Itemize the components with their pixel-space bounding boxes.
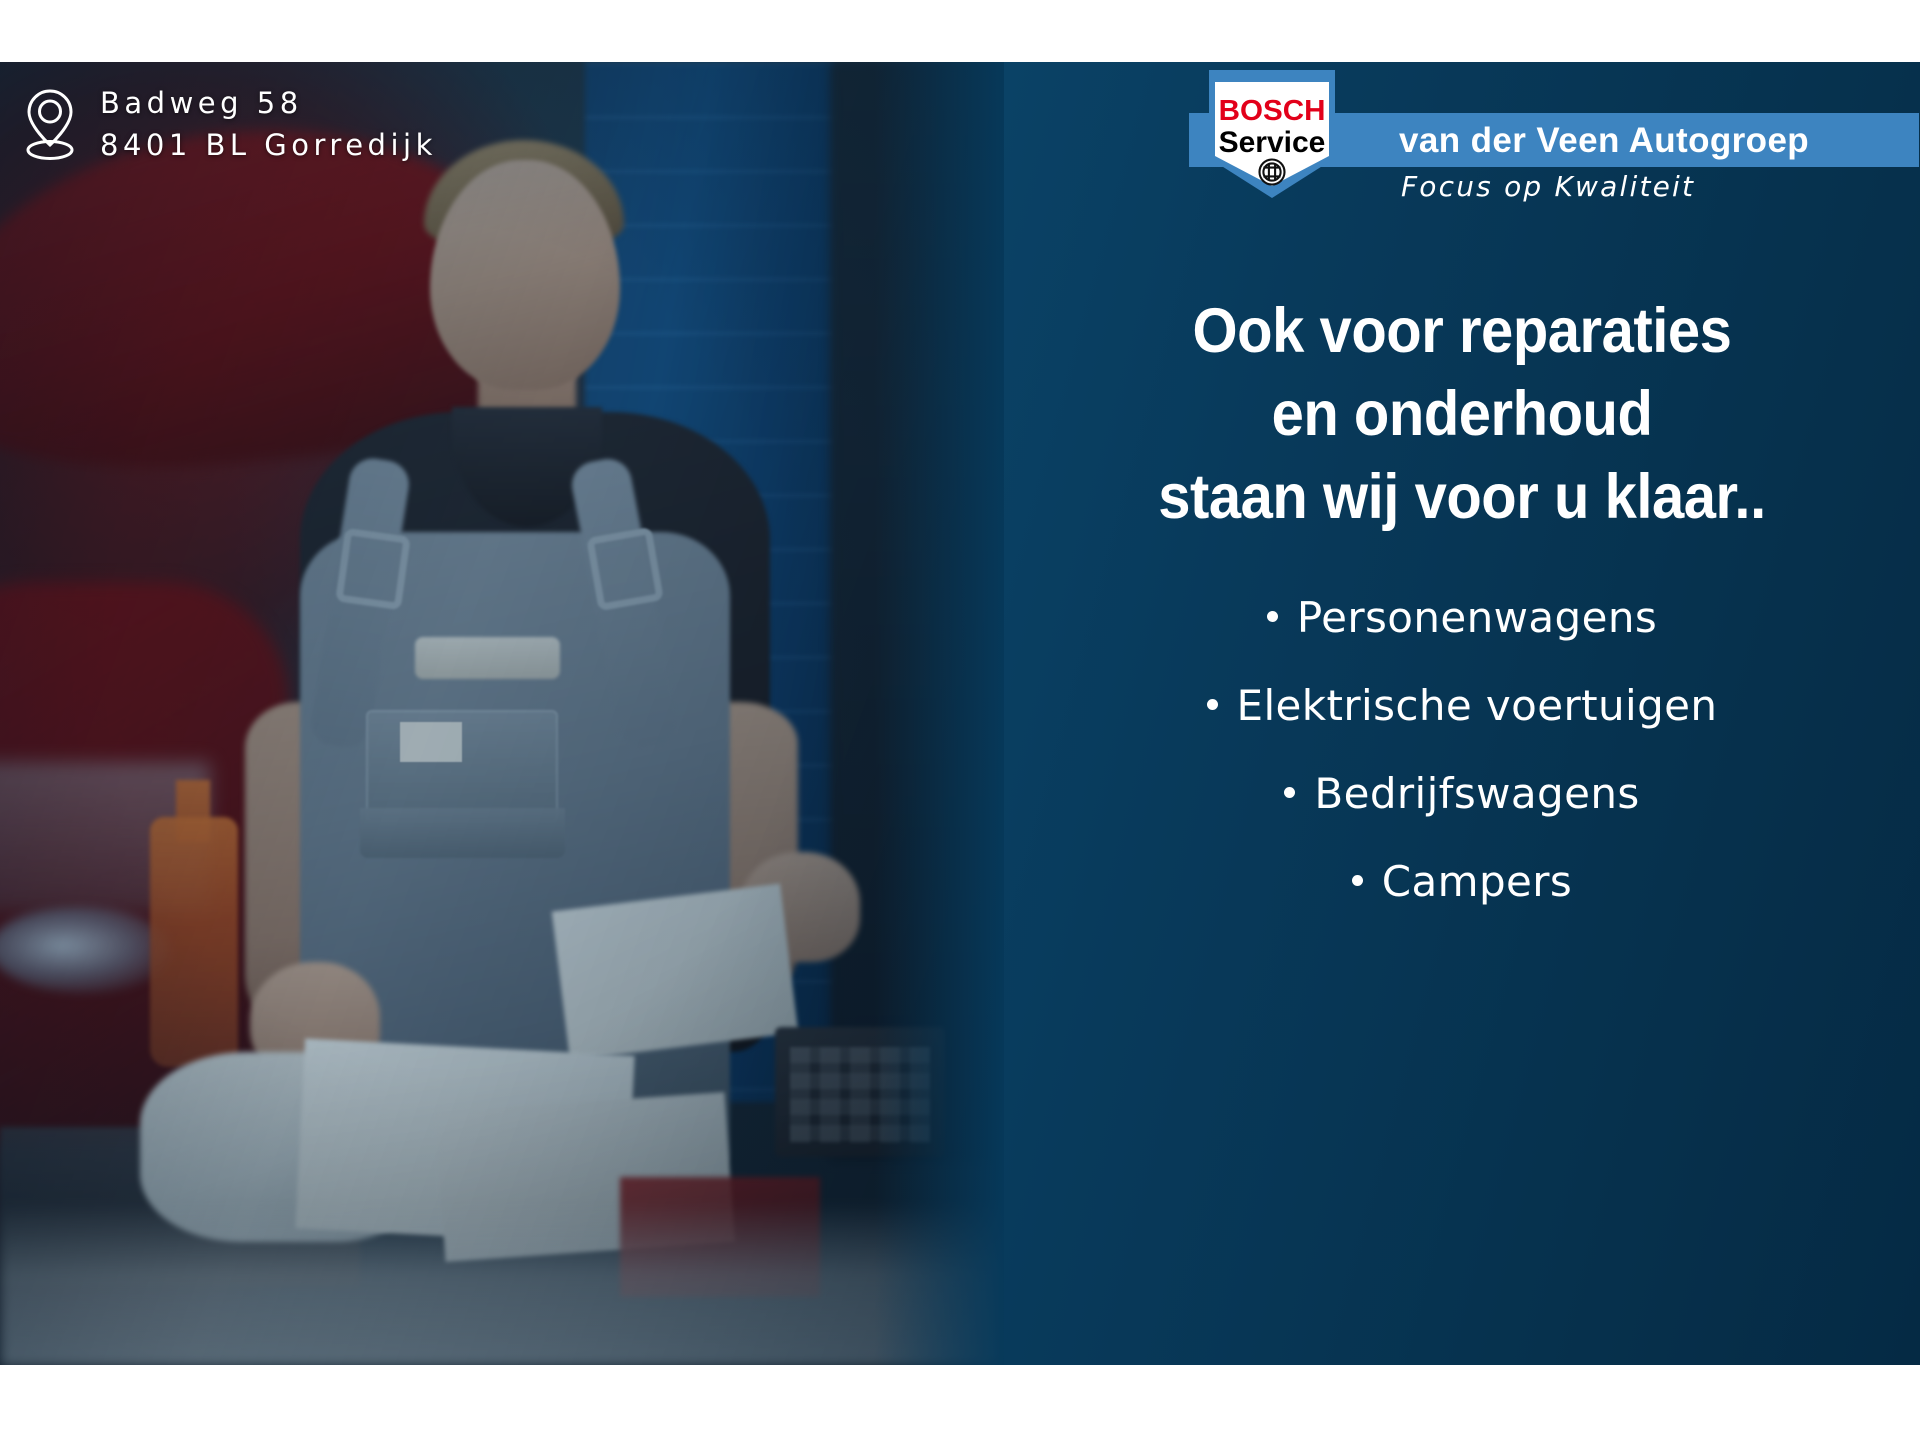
service-banner: Badweg 58 8401 BL Gorredijk BOSCH Servic… <box>0 62 1920 1365</box>
list-item: Campers <box>1004 861 1920 903</box>
bullet-dot-icon <box>1284 787 1295 798</box>
bosch-service-logo: BOSCH Service <box>1209 70 1335 198</box>
company-tagline: Focus op Kwaliteit <box>1401 170 1695 203</box>
headline-line-2: en onderhoud <box>1041 373 1884 456</box>
address-text: Badweg 58 8401 BL Gorredijk <box>100 82 437 166</box>
services-list: Personenwagens Elektrische voertuigen Be… <box>1004 597 1920 949</box>
service-label: Personenwagens <box>1297 593 1657 642</box>
svg-text:Service: Service <box>1219 126 1326 159</box>
address-city: 8401 BL Gorredijk <box>100 124 437 166</box>
bullet-dot-icon <box>1207 699 1218 710</box>
photo-vignette <box>0 62 1004 1365</box>
service-label: Campers <box>1382 857 1572 906</box>
headline: Ook voor reparaties en onderhoud staan w… <box>1041 290 1884 539</box>
list-item: Bedrijfswagens <box>1004 773 1920 815</box>
service-label: Bedrijfswagens <box>1314 769 1639 818</box>
address-street: Badweg 58 <box>100 82 437 124</box>
list-item: Elektrische voertuigen <box>1004 685 1920 727</box>
company-name: van der Veen Autogroep <box>1399 118 1919 164</box>
address-block: Badweg 58 8401 BL Gorredijk <box>22 82 437 166</box>
list-item: Personenwagens <box>1004 597 1920 639</box>
info-pane: BOSCH Service van der Veen Autogroep Foc… <box>1004 62 1920 1365</box>
headline-line-3: staan wij voor u klaar.. <box>1041 456 1884 539</box>
map-pin-icon <box>22 87 78 161</box>
headline-line-1: Ook voor reparaties <box>1041 290 1884 373</box>
service-label: Elektrische voertuigen <box>1237 681 1718 730</box>
bullet-dot-icon <box>1267 611 1278 622</box>
mechanic-photo: Badweg 58 8401 BL Gorredijk <box>0 62 1004 1365</box>
svg-text:BOSCH: BOSCH <box>1219 94 1326 127</box>
photo-edge-fade <box>874 62 1004 1365</box>
brand-lockup: BOSCH Service van der Veen Autogroep Foc… <box>1189 70 1919 210</box>
bullet-dot-icon <box>1352 875 1363 886</box>
